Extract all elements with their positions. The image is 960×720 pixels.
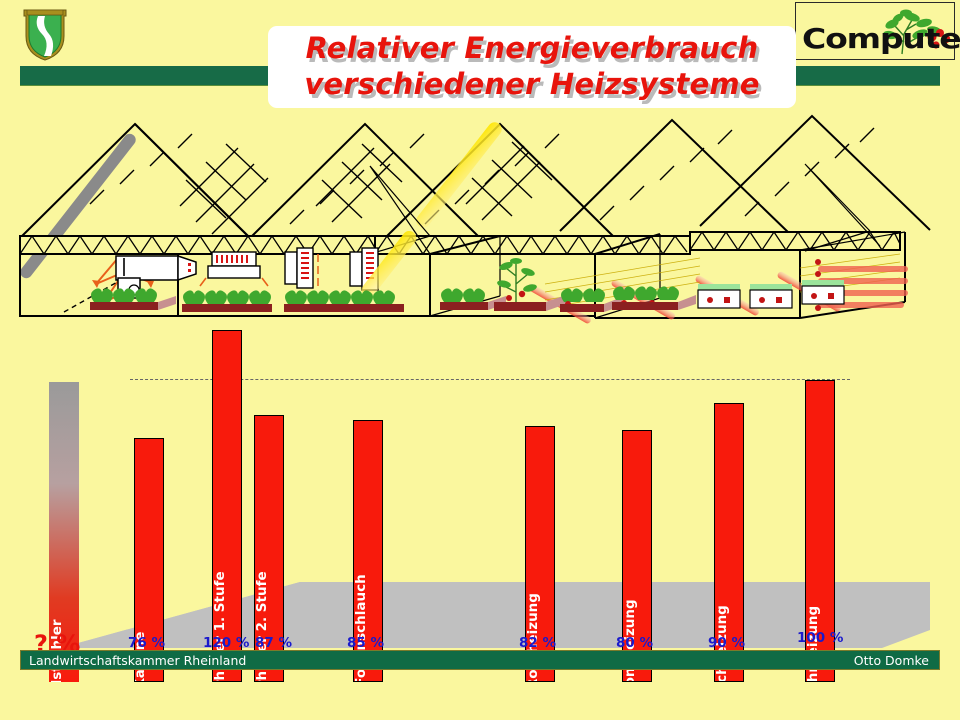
value-label: 100 % <box>797 630 843 646</box>
computer-logo-word: Computer <box>802 25 960 53</box>
value-label: 82 % <box>519 635 556 651</box>
greenhouse-illustration <box>0 106 960 331</box>
value-label: 80 % <box>616 635 653 651</box>
computer-logo: Computer <box>795 2 955 60</box>
coat-of-arms-crest-icon <box>20 6 70 62</box>
footer-author: Otto Domke <box>854 653 929 668</box>
value-label: 85 % <box>347 635 384 651</box>
value-label: 90 % <box>708 635 745 651</box>
bar-chart: DunkelstrahlerCO2 KanoneDeckenlufterhitz… <box>0 330 960 650</box>
value-label: 87 % <box>255 635 292 651</box>
value-label: 120 % <box>203 635 249 651</box>
title-box: Relativer Energieverbrauch verschiedener… <box>268 26 796 108</box>
footer-bar: Landwirtschaftskammer Rheinland Otto Dom… <box>20 650 940 670</box>
footer-organization: Landwirtschaftskammer Rheinland <box>29 653 246 668</box>
value-label: 76 % <box>128 635 165 651</box>
slide-canvas: Computer Relativer Energieverbrauch vers… <box>0 0 960 720</box>
page-title: Relativer Energieverbrauch verschiedener… <box>268 30 796 102</box>
bar-deckenlufterhitzer-1-stufe: Deckenlufterhitzer 1. Stufe <box>212 330 242 682</box>
